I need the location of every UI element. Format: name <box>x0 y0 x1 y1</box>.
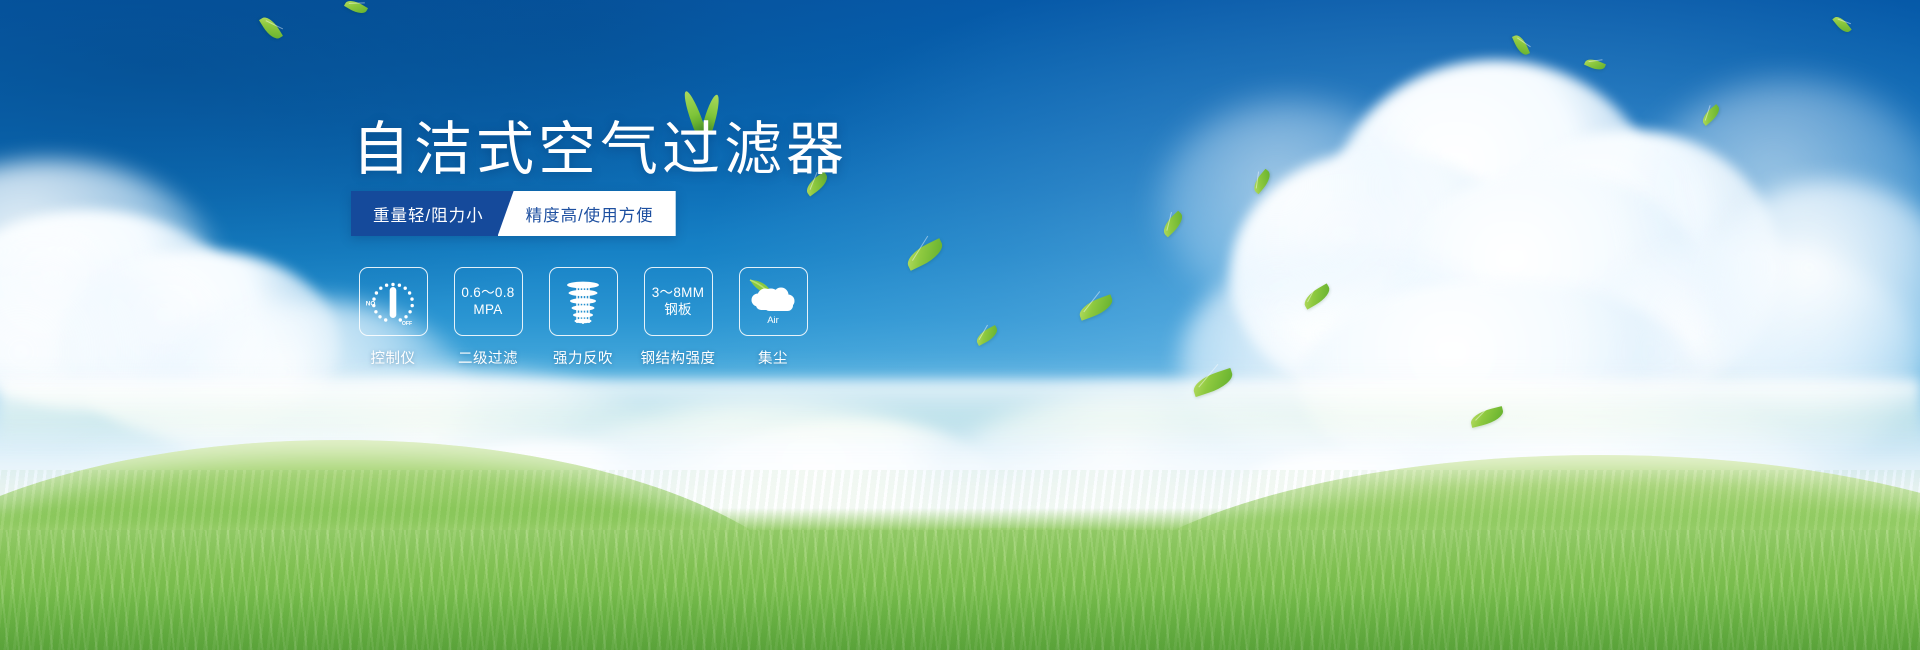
pressure-range: 0.6～0.8 <box>461 285 514 301</box>
feature-item-two-stage-filter[interactable]: 0.6～0.8 MPA 二级过滤 <box>453 267 523 368</box>
feature-item-steel-strength[interactable]: 3～8MM 钢板 钢结构强度 <box>643 267 713 368</box>
feature-card[interactable] <box>549 267 618 336</box>
feature-card[interactable]: Air <box>739 267 808 336</box>
banner-content: 自洁式空气过滤器 重量轻/阻力小 精度高/使用方便 <box>0 0 1920 650</box>
steel-plate-text-icon: 3～8MM 钢板 <box>652 285 705 318</box>
feature-card[interactable]: 3～8MM 钢板 <box>644 267 713 336</box>
svg-text:Air: Air <box>767 315 779 326</box>
feature-label: 强力反吹 <box>553 347 613 368</box>
feature-label: 钢结构强度 <box>641 347 716 368</box>
svg-text:OFF: OFF <box>402 321 412 327</box>
pressure-text-icon: 0.6～0.8 MPA <box>461 285 514 318</box>
feature-label: 集尘 <box>758 347 788 368</box>
air-cloud-icon: Air <box>746 276 800 328</box>
tag-group: 重量轻/阻力小 精度高/使用方便 <box>351 191 676 236</box>
steel-material: 钢板 <box>652 302 705 318</box>
tag-weight-resistance[interactable]: 重量轻/阻力小 <box>351 191 514 236</box>
power-dial-icon: NO OFF <box>365 274 421 330</box>
feature-label: 控制仪 <box>371 347 416 368</box>
product-banner: 自洁式空气过滤器 重量轻/阻力小 精度高/使用方便 <box>0 0 1920 650</box>
svg-text:NO: NO <box>366 300 376 307</box>
feature-item-controller[interactable]: NO OFF 控制仪 <box>358 267 428 368</box>
tag-precision-convenience[interactable]: 精度高/使用方便 <box>498 191 676 236</box>
steel-thickness: 3～8MM <box>652 285 705 301</box>
feature-card[interactable]: NO OFF <box>359 267 428 336</box>
feature-label: 二级过滤 <box>458 347 518 368</box>
feature-item-blowback[interactable]: 强力反吹 <box>548 267 618 368</box>
feature-list: NO OFF 控制仪 0.6～0.8 MPA 二级过滤 <box>358 267 808 368</box>
page-title: 自洁式空气过滤器 <box>352 120 848 181</box>
feature-card[interactable]: 0.6～0.8 MPA <box>454 267 523 336</box>
feature-item-dust-collection[interactable]: Air 集尘 <box>738 267 808 368</box>
blowback-coil-icon <box>558 276 608 328</box>
pressure-unit: MPA <box>461 302 514 318</box>
